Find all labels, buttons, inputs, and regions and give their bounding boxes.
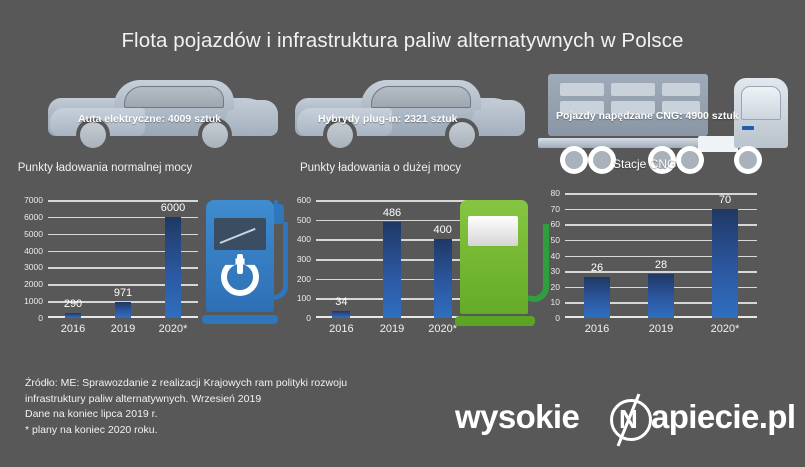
truck-box — [698, 136, 738, 152]
bar — [115, 302, 131, 318]
chart-plot-area: 010020030040050060034201648620194002020* — [316, 200, 468, 318]
bar-value-label: 34 — [335, 296, 347, 308]
plugin-hybrid-label: Hybrydy plug-in: 2321 sztuk — [318, 113, 457, 125]
lightning-n-icon: N — [607, 396, 655, 444]
source-note: Źródło: ME: Sprawozdanie z realizacji Kr… — [25, 376, 455, 438]
y-axis-tick: 2000 — [24, 279, 43, 289]
y-axis-tick: 1000 — [24, 296, 43, 306]
x-axis-tick: 2020* — [711, 323, 740, 335]
y-axis-tick: 300 — [297, 254, 311, 264]
bar — [332, 311, 350, 318]
power-button-bar — [237, 254, 243, 274]
y-axis-tick: 7000 — [24, 195, 43, 205]
y-axis-tick: 5000 — [24, 229, 43, 239]
car-window — [124, 86, 224, 108]
x-axis-tick: 2019 — [649, 323, 673, 335]
cng-truck-label: Pojazdy napędzane CNG: 4900 sztuk — [556, 110, 739, 122]
y-axis-tick: 600 — [297, 195, 311, 205]
bar-value-label: 486 — [383, 207, 401, 219]
chart-high-power-charging-points: Punkty ładowania o dużej mocy 0100200300… — [283, 160, 478, 340]
y-axis-tick: 0 — [38, 313, 43, 323]
trailer-slat — [560, 83, 604, 96]
source-line-4: * plany na koniec 2020 roku. — [25, 423, 455, 439]
source-line-3: Dane na koniec lipca 2019 r. — [25, 407, 455, 423]
ev-charging-station-icon — [200, 196, 290, 324]
bar-value-label: 26 — [591, 262, 603, 274]
chart-normal-power-charging-points: Punkty ładowania normalnej mocy 01000200… — [10, 160, 200, 340]
ev-plug-prong — [274, 200, 278, 208]
bar-value-label: 28 — [655, 259, 667, 271]
x-axis-tick: 2019 — [111, 323, 135, 335]
cng-pump-base — [455, 316, 535, 326]
bar — [712, 209, 738, 318]
grid-line — [316, 220, 468, 222]
cng-stations-caption: Stacje CNG — [613, 157, 676, 171]
grid-line — [316, 200, 468, 202]
infographic-canvas: Flota pojazdów i infrastruktura paliw al… — [0, 0, 805, 467]
bar-value-label: 290 — [64, 298, 82, 310]
x-axis-tick: 2016 — [61, 323, 85, 335]
electric-car-label: Auta elektryczne: 4009 sztuk — [78, 113, 221, 125]
bar-value-label: 6000 — [161, 202, 185, 214]
trailer-slat — [611, 83, 655, 96]
y-axis-tick: 400 — [297, 234, 311, 244]
bar — [584, 277, 610, 318]
y-axis-tick: 4000 — [24, 246, 43, 256]
cng-pump-screen — [468, 216, 518, 246]
ev-pump-base — [202, 315, 278, 324]
x-axis-tick: 2020* — [159, 323, 188, 335]
source-line-1: Źródło: ME: Sprawozdanie z realizacji Kr… — [25, 376, 455, 392]
trailer-slat — [662, 83, 700, 96]
chart-title: Punkty ładowania o dużej mocy — [283, 160, 478, 176]
chart-plot-area: 01020304050607080262016282019702020* — [565, 193, 757, 318]
y-axis-tick: 80 — [551, 188, 560, 198]
truck-door-handle — [742, 126, 754, 130]
bar — [383, 222, 401, 318]
source-line-2: infrastruktury paliw alternatywnych. Wrz… — [25, 392, 455, 408]
bar — [434, 239, 452, 318]
logo-text-right: apiecie.pl — [651, 398, 795, 436]
y-axis-tick: 500 — [297, 215, 311, 225]
bar — [165, 217, 181, 318]
x-axis-tick: 2020* — [428, 323, 457, 335]
y-axis-tick: 6000 — [24, 212, 43, 222]
x-axis-tick: 2019 — [380, 323, 404, 335]
y-axis-tick: 3000 — [24, 262, 43, 272]
bar — [65, 313, 81, 318]
site-logo[interactable]: wysokie N apiecie.pl — [455, 396, 785, 448]
x-axis-tick: 2016 — [585, 323, 609, 335]
x-axis-tick: 2016 — [329, 323, 353, 335]
y-axis-tick: 200 — [297, 274, 311, 284]
vehicle-cng-truck — [538, 74, 788, 170]
chart-plot-area: 0100020003000400050006000700029020169712… — [48, 200, 198, 318]
bar-value-label: 70 — [719, 194, 731, 206]
bar-value-label: 971 — [114, 287, 132, 299]
logo-letter-n: N — [619, 406, 638, 432]
bar-value-label: 400 — [433, 224, 451, 236]
y-axis-tick: 0 — [306, 313, 311, 323]
truck-cab-window — [741, 86, 781, 120]
logo-text-left: wysokie — [455, 398, 579, 436]
chart-cng-stations: 01020304050607080262016282019702020* — [533, 160, 788, 340]
cng-fuel-pump-icon — [455, 198, 560, 326]
bar — [648, 274, 674, 318]
page-title: Flota pojazdów i infrastruktura paliw al… — [0, 29, 805, 53]
y-axis-tick: 100 — [297, 293, 311, 303]
car-window — [371, 86, 471, 108]
chart-title: Punkty ładowania normalnej mocy — [10, 160, 200, 176]
